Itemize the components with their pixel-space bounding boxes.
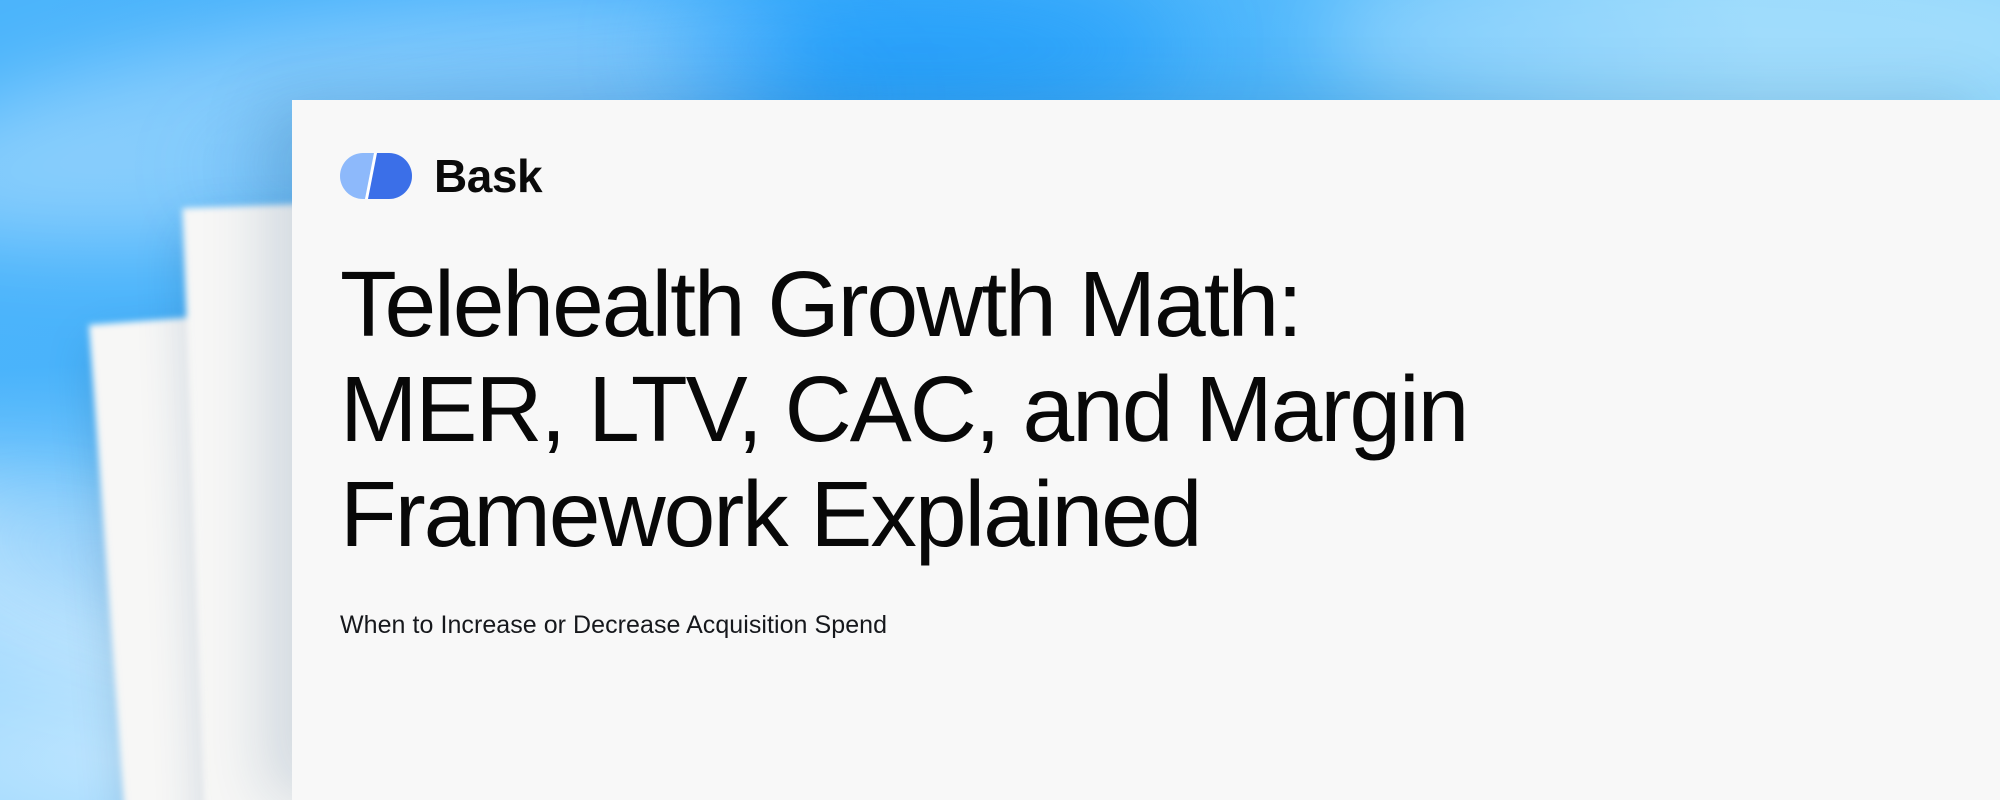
cover-card: Bask Telehealth Growth Math: MER, LTV, C… — [292, 100, 2000, 800]
headline-line: MER, LTV, CAC, and Margin — [340, 357, 1520, 462]
headline-line: Telehealth Growth Math: — [340, 252, 1520, 357]
split-capsule-logo-icon — [340, 153, 412, 199]
headline-line: Framework Explained — [340, 462, 1520, 567]
brand-name-label: Bask — [434, 153, 542, 199]
cover-slide: Bask Telehealth Growth Math: MER, LTV, C… — [0, 0, 2000, 800]
brand-lockup[interactable]: Bask — [340, 148, 1944, 204]
page-subtitle: When to Increase or Decrease Acquisition… — [340, 609, 1944, 642]
page-title: Telehealth Growth Math: MER, LTV, CAC, a… — [340, 252, 1520, 567]
